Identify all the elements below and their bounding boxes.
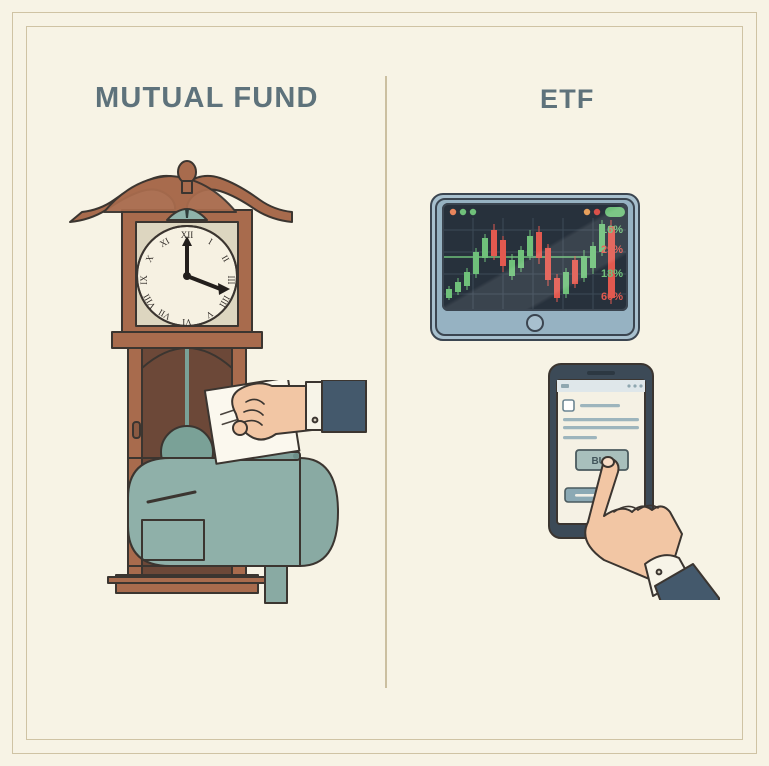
clock-finial-stem [182,181,192,193]
cuff-button [657,570,662,575]
clock-finial [178,161,196,183]
tablet-home-button [527,315,543,331]
mailbox-illustration [60,380,380,610]
tablet-screen-content: 16% 29% 18% 60% [443,204,627,310]
svg-text:VI: VI [182,317,192,327]
clock-hood-moulding [112,332,262,348]
text-line-4 [563,436,597,439]
phone-speaker [587,371,615,375]
list-thumbnail [563,400,574,411]
page-title-mutual-fund: MUTUAL FUND [95,82,319,115]
thumb [233,421,247,435]
panel-divider [385,76,387,688]
tablet-illustration: 16% 29% 18% 60% [425,190,645,350]
text-line-3 [563,426,639,429]
infographic-canvas: MUTUAL FUND ETF [0,0,769,766]
clock-hand-pivot [183,272,191,280]
screen-glare [443,204,627,310]
svg-text:IX: IX [139,275,149,285]
phone-illustration: BUY [535,360,720,600]
app-status-bar [557,380,645,392]
page-title-etf: ETF [540,84,595,115]
svg-text:III: III [226,276,236,285]
cuff-button [313,418,318,423]
suit-sleeve [322,380,366,432]
fingertip [602,457,614,467]
mailbox-end [300,458,338,566]
text-line-2 [563,418,639,421]
text-line-1 [580,404,620,407]
hand-depositing-envelope [232,380,366,440]
